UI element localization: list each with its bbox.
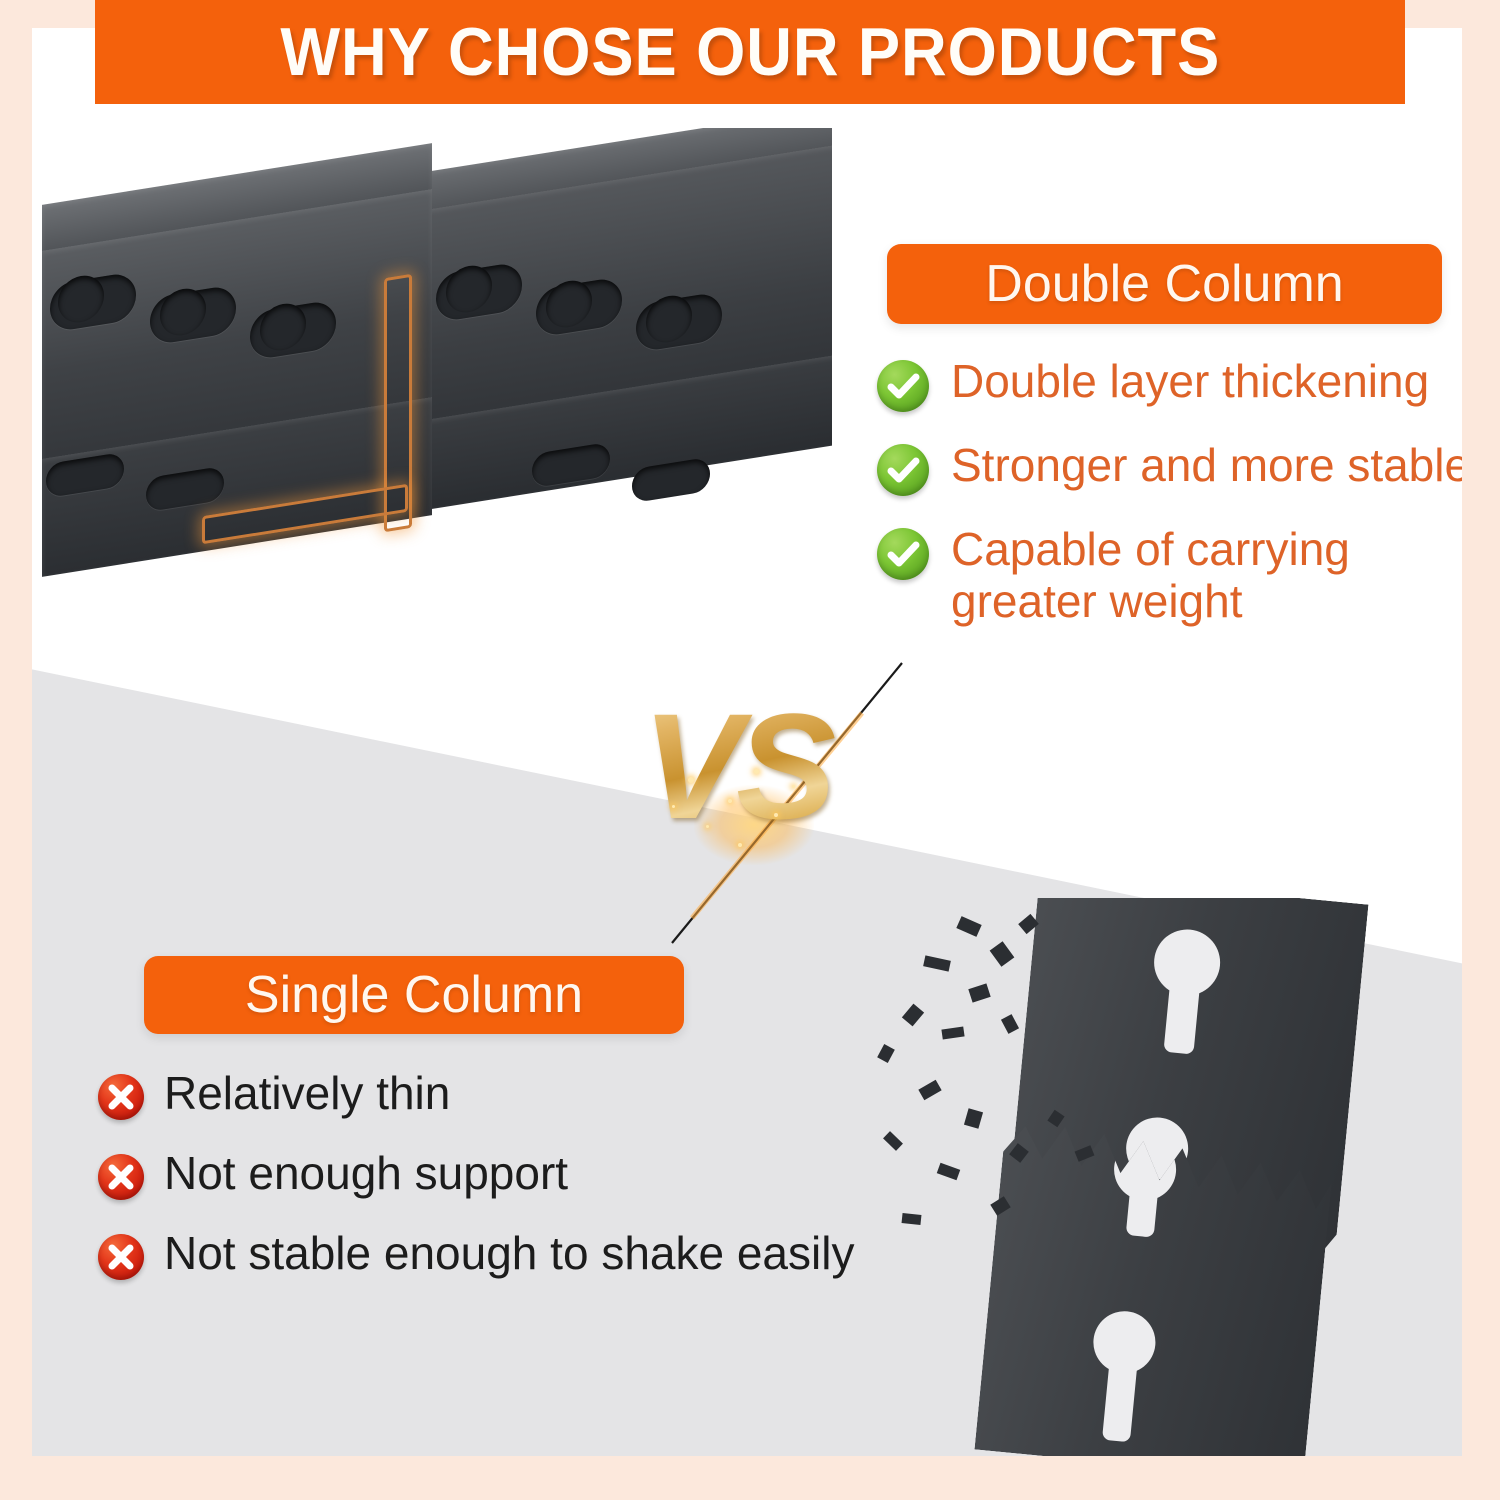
list-item: Not stable enough to shake easily xyxy=(98,1228,918,1280)
benefit-label: Capable of carrying greater weight xyxy=(951,524,1350,627)
content-card: Double Column Double layer thickening xyxy=(32,28,1462,1456)
debris-shard xyxy=(918,1080,941,1100)
double-column-benefit-list: Double layer thickening Stronger and mor… xyxy=(877,356,1462,627)
list-item: Not enough support xyxy=(98,1148,918,1200)
red-cross-icon xyxy=(98,1074,144,1120)
keyhole-slot-stem xyxy=(1126,1181,1159,1237)
spark-particle xyxy=(728,799,732,803)
green-check-icon xyxy=(877,360,929,412)
versus-emblem: VS xyxy=(642,673,872,903)
debris-shard xyxy=(964,1108,983,1128)
single-column-drawback-list: Relatively thin Not enough support Not s… xyxy=(98,1068,918,1280)
list-item: Relatively thin xyxy=(98,1068,918,1120)
debris-shard xyxy=(877,1044,895,1063)
debris-shard xyxy=(902,1004,924,1027)
list-item: Capable of carrying greater weight xyxy=(877,524,1462,627)
double-column-badge-label: Double Column xyxy=(985,258,1343,310)
debris-shard xyxy=(990,941,1015,967)
debris-shard xyxy=(941,1027,964,1040)
single-column-badge-label: Single Column xyxy=(245,969,583,1021)
page-title: WHY CHOSE OUR PRODUCTS xyxy=(280,18,1220,86)
infographic-canvas: Double Column Double layer thickening xyxy=(0,0,1500,1500)
spark-particle xyxy=(792,785,795,788)
debris-shard xyxy=(956,916,981,937)
list-item: Stronger and more stable xyxy=(877,440,1462,496)
double-column-section: Double Column Double layer thickening xyxy=(32,28,1462,668)
debris-shard xyxy=(968,983,990,1002)
list-item: Double layer thickening xyxy=(877,356,1462,412)
spark-particle xyxy=(706,825,709,828)
benefit-label: Double layer thickening xyxy=(951,356,1429,408)
spark-particle xyxy=(688,777,694,783)
red-cross-icon xyxy=(98,1154,144,1200)
red-cross-icon xyxy=(98,1234,144,1280)
green-check-icon xyxy=(877,528,929,580)
green-check-icon xyxy=(877,444,929,496)
header-banner: WHY CHOSE OUR PRODUCTS xyxy=(95,0,1405,104)
drawback-label: Not stable enough to shake easily xyxy=(164,1228,854,1280)
debris-shard xyxy=(923,955,951,971)
drawback-label: Relatively thin xyxy=(164,1068,450,1120)
drawback-label: Not enough support xyxy=(164,1148,568,1200)
debris-shard xyxy=(1001,1014,1019,1034)
broken-single-column-post-photo xyxy=(862,898,1462,1456)
double-column-steel-beam-photo xyxy=(32,128,832,628)
keyhole-slot-stem xyxy=(1163,978,1200,1055)
debris-shard xyxy=(937,1163,960,1181)
spark-particle xyxy=(774,813,778,817)
benefit-label: Stronger and more stable xyxy=(951,440,1462,492)
single-column-badge: Single Column xyxy=(144,956,684,1034)
spark-particle xyxy=(738,843,742,847)
spark-particle xyxy=(672,805,675,808)
spark-particle xyxy=(754,769,759,774)
versus-label: VS xyxy=(642,691,872,841)
double-column-badge: Double Column xyxy=(887,244,1442,324)
